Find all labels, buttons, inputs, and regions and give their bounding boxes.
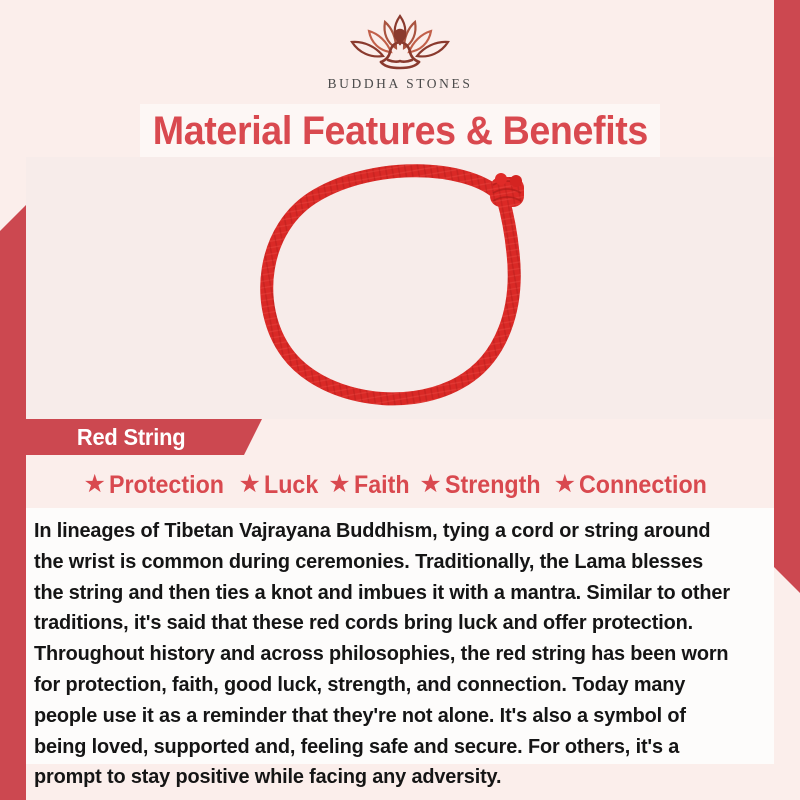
title-banner: Material Features & Benefits (140, 104, 660, 157)
decor-band-right (774, 0, 800, 593)
promo-poster: BUDDHA STONES Material Features & Benefi… (0, 0, 800, 800)
ribbon-label: Red String (77, 424, 186, 451)
decor-band-left (0, 205, 26, 800)
page-title: Material Features & Benefits (152, 111, 647, 151)
description-text: In lineages of Tibetan Vajrayana Buddhis… (34, 516, 736, 793)
brand-logo: BUDDHA STONES (26, 0, 774, 104)
brand-name: BUDDHA STONES (328, 76, 473, 92)
star-icon: ★ (419, 472, 441, 497)
product-ribbon: Red String (0, 419, 262, 455)
benefit-item-protection: ★ Protection (83, 473, 232, 498)
star-icon: ★ (239, 472, 261, 497)
benefit-item-faith: ★ Faith (328, 473, 413, 498)
star-icon: ★ (328, 472, 350, 497)
benefit-item-connection: ★ Connection (554, 473, 717, 498)
benefit-item-luck: ★ Luck (239, 473, 323, 498)
product-image (26, 157, 774, 419)
benefit-label: Strength (445, 473, 541, 498)
benefit-label: Protection (109, 473, 224, 498)
benefit-label: Connection (579, 473, 707, 498)
benefits-row: ★ Protection ★ Luck ★ Faith ★ Strength ★… (26, 462, 774, 508)
benefit-label: Luck (264, 473, 318, 498)
description-block: In lineages of Tibetan Vajrayana Buddhis… (26, 508, 774, 764)
lotus-meditation-icon (338, 12, 462, 74)
benefit-label: Faith (354, 473, 410, 498)
benefit-item-strength: ★ Strength (419, 473, 547, 498)
star-icon: ★ (554, 472, 576, 497)
star-icon: ★ (83, 472, 105, 497)
poster-inner: BUDDHA STONES Material Features & Benefi… (26, 0, 774, 800)
